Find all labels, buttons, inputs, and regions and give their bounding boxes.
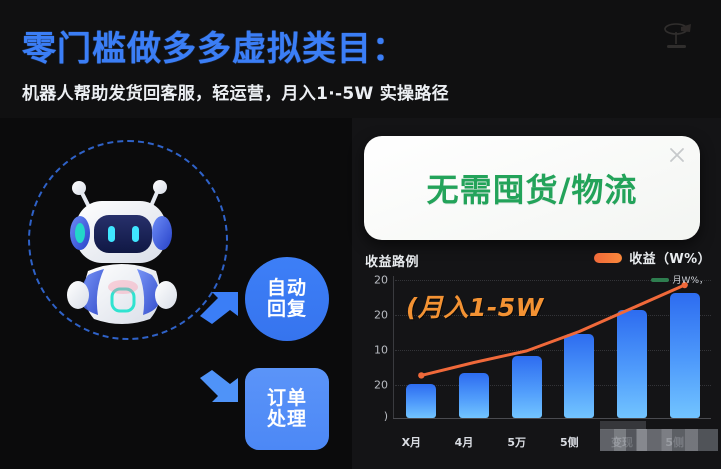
arrow-up-right-icon: [198, 290, 242, 324]
x-tick-label: 5侧: [546, 434, 592, 450]
x-tick-label: 5万: [494, 434, 540, 450]
line-end-label: 月W%，: [651, 273, 708, 286]
poster-canvas: 零门槛做多多虚拟类目： 机器人帮助发货回客服，轻运营，月入1·-5W 实操路径: [0, 0, 721, 469]
line-marker: [418, 372, 424, 378]
line-end-label-text: 月W%，: [673, 273, 708, 286]
bubble-order-processing[interactable]: 订单处理: [245, 368, 329, 450]
watermark-logo-icon: [659, 18, 699, 54]
x-tick-label: 4月: [441, 434, 487, 450]
y-tick-label: 20: [362, 274, 388, 287]
y-tick-label: 20: [362, 309, 388, 322]
chart-annotation: (月入1-5W: [406, 288, 544, 324]
chart-y-axis: [393, 276, 394, 418]
header-banner: 零门槛做多多虚拟类目： 机器人帮助发货回客服，轻运营，月入1·-5W 实操路径: [0, 0, 721, 118]
line-end-dash-icon: [651, 278, 669, 282]
chart-x-axis: [393, 418, 711, 419]
y-tick-label: 10: [362, 344, 388, 357]
page-subtitle: 机器人帮助发货回客服，轻运营，月入1·-5W 实操路径: [22, 79, 449, 104]
bubble-auto-reply[interactable]: 自动回复: [245, 257, 329, 341]
chart-title: 收益路例: [365, 251, 419, 270]
chart-plot-area: 20 20 10 20 ) (月入1-5W 月W%，: [362, 276, 714, 428]
mosaic-redaction: [600, 429, 718, 451]
bubble-auto-reply-label: 自动回复: [267, 278, 307, 321]
highlight-card: 无需囤货/物流: [364, 136, 700, 240]
y-tick-label: ): [362, 410, 388, 423]
legend-label: 收益（W%）: [629, 248, 711, 267]
illustration-panel: 自动回复 订单处理 开店 上架 运营: [0, 118, 352, 469]
highlight-card-text: 无需囤货/物流: [364, 136, 700, 240]
chart-legend: 收益（W%）: [594, 248, 711, 267]
bubble-order-processing-label: 订单处理: [267, 388, 307, 431]
robot-mascot-icon: [48, 163, 198, 333]
x-tick-label: X月: [388, 434, 434, 450]
page-title: 零门槛做多多虚拟类目：: [22, 21, 407, 70]
dashboard-panel: 无需囤货/物流 收益路例 收益（W%） 20 20 10 20 ) (月入1-5…: [352, 118, 721, 469]
arrow-down-right-icon: [198, 370, 242, 404]
close-icon[interactable]: [668, 146, 686, 164]
legend-swatch-icon: [594, 253, 622, 263]
y-tick-label: 20: [362, 379, 388, 392]
